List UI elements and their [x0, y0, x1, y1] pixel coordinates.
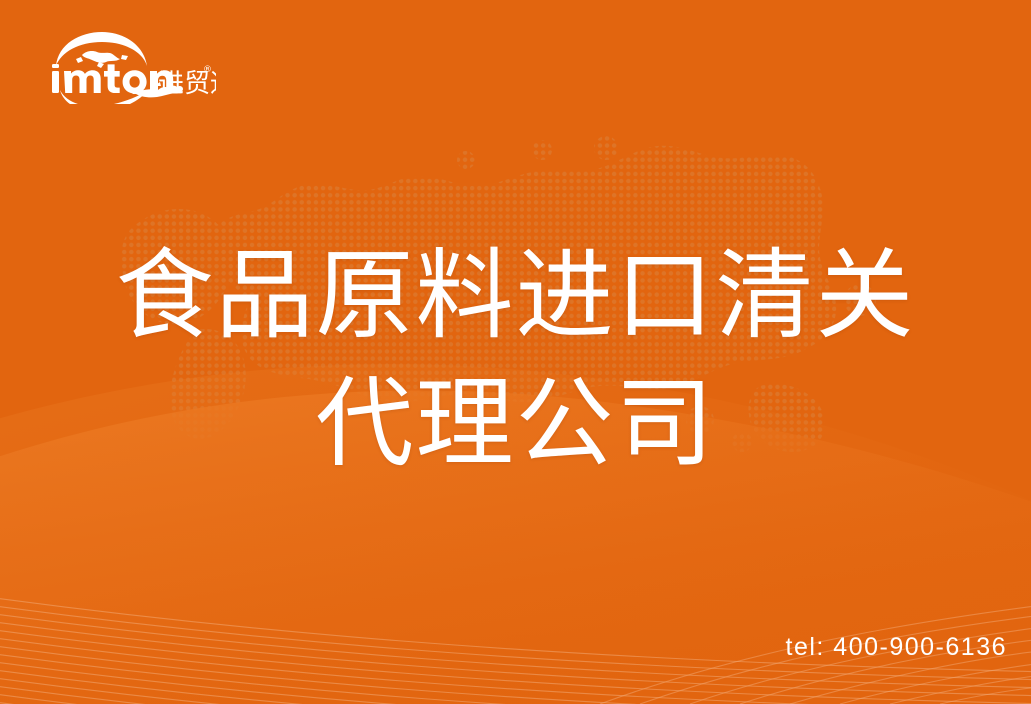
trademark-symbol: ®: [203, 65, 212, 75]
globe-arc-icon: [56, 32, 147, 68]
headline-line-2: 代理公司: [0, 360, 1031, 488]
contact-phone: tel: 400-900-6136: [786, 632, 1007, 662]
logo-wordmark: [52, 64, 173, 94]
company-logo[interactable]: 进贸通 ®: [36, 28, 216, 104]
promo-banner: 进贸通 ® 食品原料进口清关 代理公司 tel: 400-900-6136: [0, 0, 1031, 704]
page-title: 食品原料进口清关 代理公司: [0, 232, 1031, 488]
headline-line-1: 食品原料进口清关: [0, 232, 1031, 360]
